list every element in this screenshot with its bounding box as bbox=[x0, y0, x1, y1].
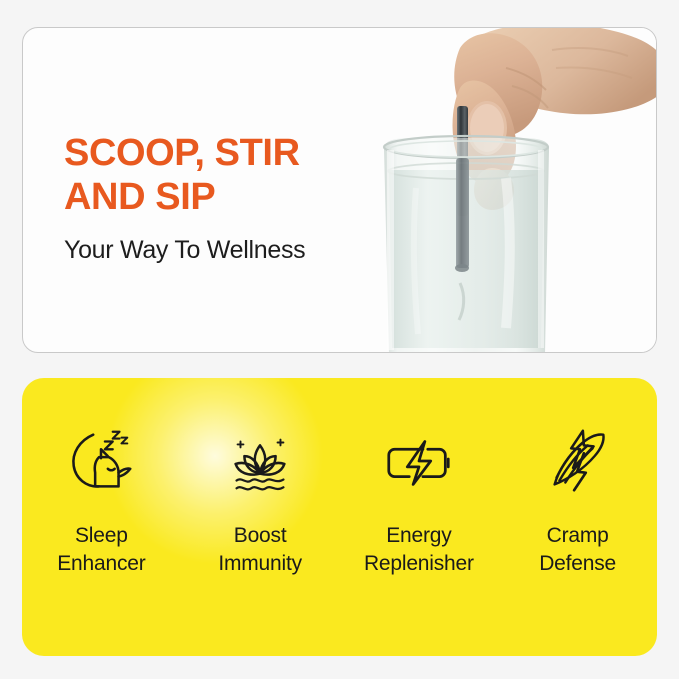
benefits-panel: Sleep Enhancer bbox=[22, 378, 657, 656]
battery-lightning-icon bbox=[380, 422, 458, 500]
benefit-item-boost-immunity: Boost Immunity bbox=[185, 422, 335, 578]
page-title: SCOOP, STIR AND SIP bbox=[64, 131, 384, 219]
hand-stirring-glass-photo bbox=[356, 28, 656, 353]
benefits-row: Sleep Enhancer bbox=[22, 378, 657, 656]
benefit-label-sleep-enhancer: Sleep Enhancer bbox=[57, 522, 145, 578]
benefit-item-cramp-defense: Cramp Defense bbox=[503, 422, 653, 578]
product-infographic: SCOOP, STIR AND SIP Your Way To Wellness bbox=[0, 0, 679, 679]
benefit-label-cramp-defense: Cramp Defense bbox=[539, 522, 616, 578]
benefit-label-boost-immunity: Boost Immunity bbox=[218, 522, 302, 578]
benefit-label-energy-replenisher: Energy Replenisher bbox=[364, 522, 474, 578]
benefit-item-sleep-enhancer: Sleep Enhancer bbox=[26, 422, 176, 578]
sleeping-cat-moon-icon bbox=[62, 422, 140, 500]
muscle-lightning-icon bbox=[539, 422, 617, 500]
hero-card: SCOOP, STIR AND SIP Your Way To Wellness bbox=[22, 27, 657, 353]
lotus-flower-water-icon bbox=[221, 422, 299, 500]
benefit-item-energy-replenisher: Energy Replenisher bbox=[344, 422, 494, 578]
page-subtitle: Your Way To Wellness bbox=[64, 235, 384, 265]
hero-text-block: SCOOP, STIR AND SIP Your Way To Wellness bbox=[64, 131, 384, 265]
